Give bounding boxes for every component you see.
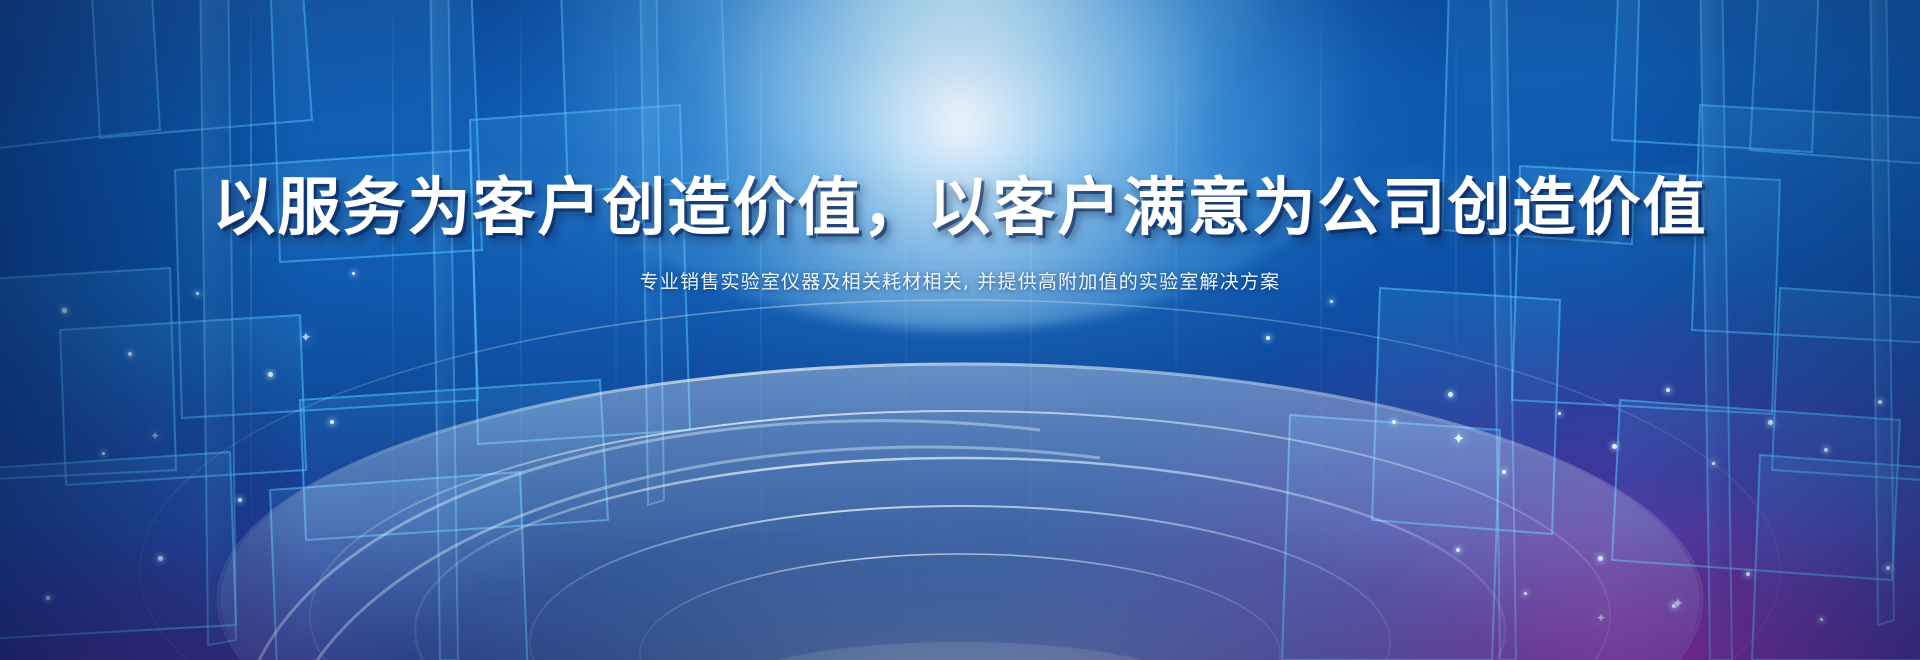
hero-banner: ✦ ✦ ✦ ✦ ✦ 以服务为客户创造价值，以客户满意为公司创造价值 专业销售实验… — [0, 0, 1920, 660]
page-title: 以服务为客户创造价值，以客户满意为公司创造价值 — [0, 176, 1920, 239]
sparkle-star-icon: ✦ — [1672, 596, 1684, 610]
sparkle-star-icon: ✦ — [300, 330, 312, 344]
banner-copy: 以服务为客户创造价值，以客户满意为公司创造价值 专业销售实验室仪器及相关耗材相关… — [0, 176, 1920, 294]
sparkle-star-icon: ✦ — [1596, 612, 1606, 624]
particles-graphic: ✦ ✦ ✦ ✦ ✦ — [0, 0, 1920, 660]
sparkle-star-icon: ✦ — [1452, 432, 1465, 448]
page-subtitle: 专业销售实验室仪器及相关耗材相关, 并提供高附加值的实验室解决方案 — [0, 267, 1920, 294]
sparkle-star-icon: ✦ — [150, 430, 160, 442]
